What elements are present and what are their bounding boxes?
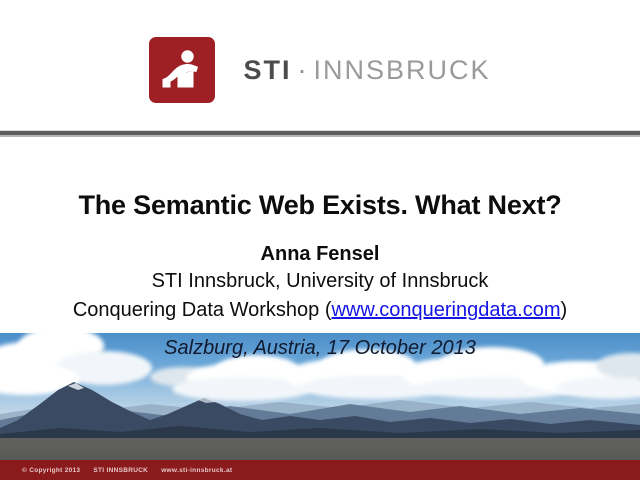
footer-credits: © Copyright 2013STI INNSBRUCKwww.sti-inn… — [22, 467, 245, 474]
slide-title: The Semantic Web Exists. What Next? — [0, 190, 640, 221]
wordmark-separator-dot: · — [297, 55, 306, 86]
footer-organization: STI INNSBRUCK — [93, 467, 148, 474]
wordmark-primary: STI — [243, 55, 291, 86]
sti-wordmark: STI · INNSBRUCK — [243, 55, 490, 86]
wordmark-secondary: INNSBRUCK — [313, 55, 490, 86]
brand-header: STI · INNSBRUCK — [0, 28, 640, 112]
mountain-ridge — [0, 370, 640, 438]
presentation-slide: STI · INNSBRUCK The Semantic Web Exists.… — [0, 0, 640, 480]
workshop-suffix-text: ) — [561, 299, 568, 321]
header-divider — [0, 130, 640, 137]
sti-running-figure-icon — [149, 37, 215, 103]
author-name: Anna Fensel — [0, 241, 640, 267]
event-location-date: Salzburg, Austria, 17 October 2013 — [0, 337, 640, 360]
footer-website: www.sti-innsbruck.at — [161, 467, 232, 474]
author-affiliation: STI Innsbruck, University of Innsbruck — [0, 267, 640, 296]
footer-copyright: © Copyright 2013 — [22, 467, 80, 474]
sti-logo-mark — [149, 37, 215, 103]
slide-subtitle-block: Anna Fensel STI Innsbruck, University of… — [0, 241, 640, 325]
workshop-prefix-text: Conquering Data Workshop ( — [73, 299, 332, 321]
workshop-website-link[interactable]: www.conqueringdata.com — [331, 299, 560, 321]
workshop-line: Conquering Data Workshop (www.conquering… — [0, 296, 640, 325]
foreground-ground-strip — [0, 438, 640, 460]
footer-bar: © Copyright 2013STI INNSBRUCKwww.sti-inn… — [0, 460, 640, 480]
